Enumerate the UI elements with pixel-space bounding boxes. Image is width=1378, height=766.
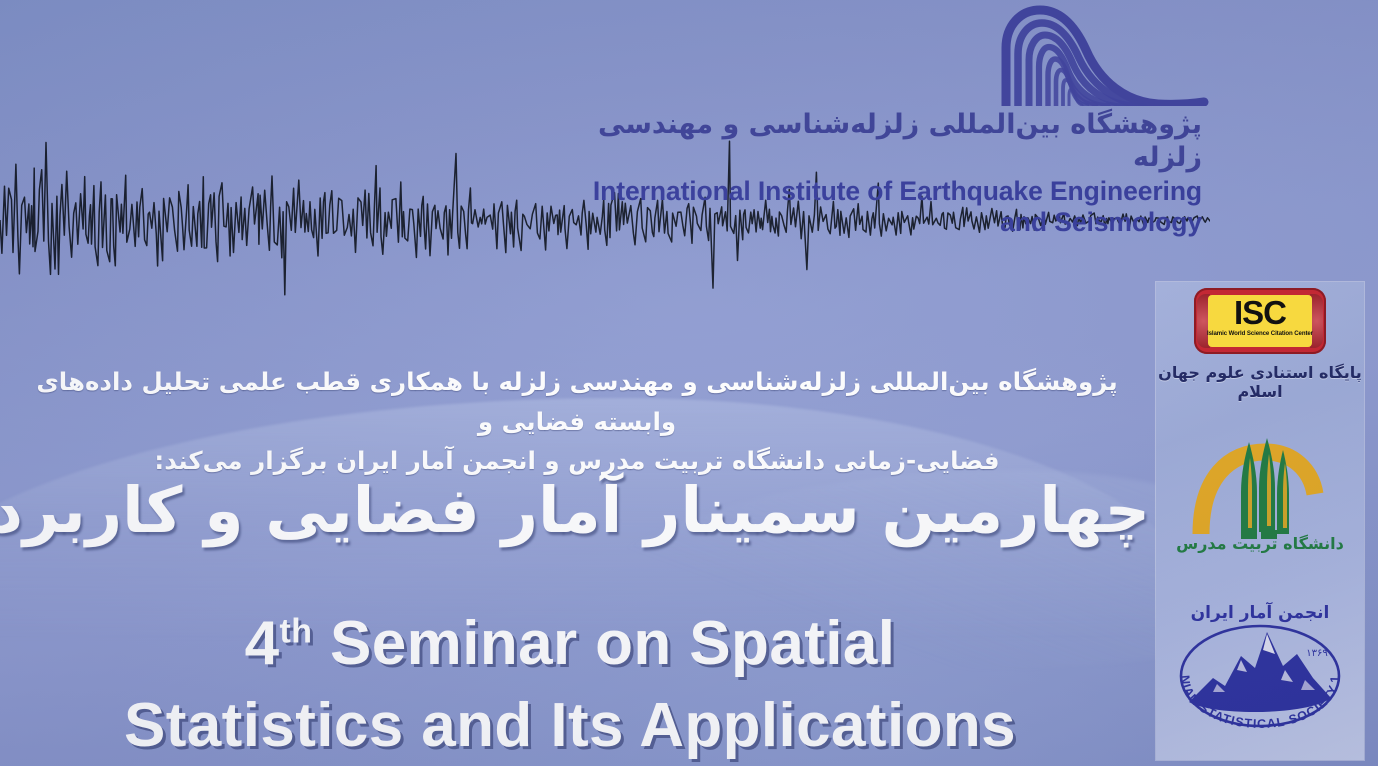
poster-canvas: پژوهشگاه بین‌المللی زلزله‌شناسی و مهندسی… [0,0,1378,766]
institute-header: پژوهشگاه بین‌المللی زلزله‌شناسی و مهندسی… [586,2,1216,237]
seminar-title-en-text-1: Seminar on Spatial [330,609,895,678]
sponsor-isc: ISC Islamic World Science Citation Cente… [1156,288,1364,401]
isc-logo: ISC Islamic World Science Citation Cente… [1194,288,1326,354]
sponsor-panel: ISC Islamic World Science Citation Cente… [1156,282,1364,760]
announcement-line-1: پژوهشگاه بین‌المللی زلزله‌شناسی و مهندسی… [22,362,1132,441]
isc-caption-fa: پایگاه استنادی علوم جهان اسلام [1156,363,1364,401]
iss-name-fa: انجمن آمار ایران [1191,601,1330,623]
seismic-wave-logo [976,2,1216,106]
sponsor-tarbiat-modares: دانشگاه تربیت مدرس [1156,430,1364,553]
sponsor-iranian-statistical-society: IRANIAN STATISTICAL SOCIETY 1990 انجمن آ… [1156,594,1364,744]
organization-name-fa: پژوهشگاه بین‌المللی زلزله‌شناسی و مهندسی… [586,108,1202,175]
seminar-title-en: 4th Seminar on Spatial Statistics and It… [0,600,1140,766]
ordinal-suffix: th [279,612,312,650]
ordinal-number: 4 [245,609,280,678]
isc-subtitle: Islamic World Science Citation Center [1207,330,1313,338]
seminar-title-en-line-1: 4th Seminar on Spatial [0,600,1140,688]
announcement-text: پژوهشگاه بین‌المللی زلزله‌شناسی و مهندسی… [22,362,1132,481]
iss-year-fa: ۱۳۶۹ [1306,648,1327,659]
tmu-caption-fa: دانشگاه تربیت مدرس [1156,534,1364,553]
iranian-statistical-society-logo: IRANIAN STATISTICAL SOCIETY 1990 انجمن آ… [1167,594,1353,744]
organization-name-en-line1: International Institute of Earthquake En… [586,176,1202,207]
isc-logo-inner: ISC Islamic World Science Citation Cente… [1208,295,1312,347]
isc-letters: ISC [1234,296,1286,330]
seminar-title-en-line-2: Statistics and Its Applications [0,682,1140,766]
organization-name-en-line2: and Seismology [586,207,1202,238]
tarbiat-modares-university-logo [1185,430,1335,542]
seminar-title-fa: چهارمین سمینار آمار فضایی و کاربردهای آن [0,474,1150,548]
